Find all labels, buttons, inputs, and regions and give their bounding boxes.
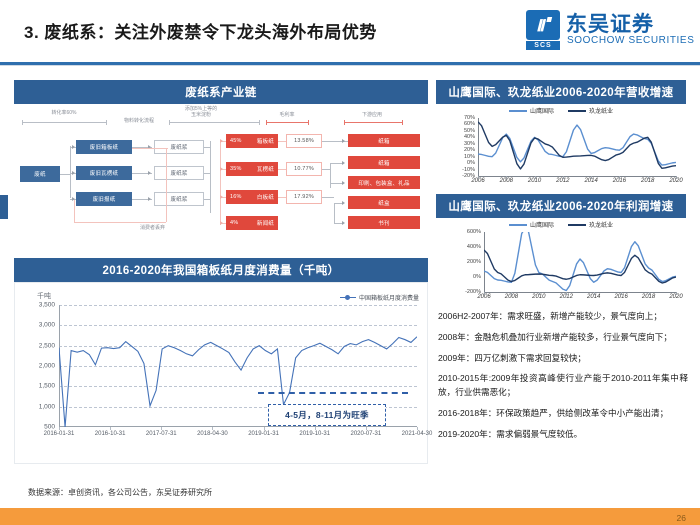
- arrow-icon: [342, 139, 345, 143]
- chain-node-downstream-0: 纸箱: [348, 134, 420, 147]
- note-paragraph: 2019-2020年：需求偏弱景气度较低。: [438, 428, 688, 442]
- profit-legend-item-1: 玖龙纸业: [568, 220, 613, 229]
- connector: [322, 169, 330, 170]
- profit-panel-title: 山鹰国际、玖龙纸业2006-2020年利润增速: [436, 194, 686, 218]
- y-tick-label: 0%: [473, 274, 481, 280]
- connector: [334, 223, 342, 224]
- chain-header-rule-1: [22, 122, 106, 123]
- y-tick-label: 60%: [464, 121, 475, 127]
- x-tick-label: 2016-10-31: [95, 431, 126, 437]
- company-name-cn: 东吴证券: [566, 8, 654, 38]
- chain-node-pulp-1: 废纸浆: [154, 166, 204, 180]
- legend-dot-icon: [345, 295, 350, 300]
- industry-chain-diagram: 转化率60%物料转化流程添加5%上等的 玉米淀粉毛利率下游应用废纸废旧箱板纸废旧…: [14, 104, 428, 244]
- x-tick-mark: [649, 292, 650, 295]
- x-tick-mark: [264, 427, 265, 430]
- chain-node-downstream-2: 印刷、包装盒、礼品: [348, 176, 420, 189]
- series-lines: [478, 118, 676, 176]
- connector: [132, 148, 168, 149]
- connector: [166, 148, 167, 222]
- x-tick-label: 2019-01-31: [248, 431, 279, 437]
- connector: [60, 174, 70, 175]
- legend-swatch: [568, 224, 586, 226]
- connector: [330, 183, 342, 184]
- arrow-icon: [220, 195, 223, 199]
- x-tick-mark: [648, 176, 649, 179]
- profit-growth-chart: 山鹰国际 玖龙纸业 600%400%200%0%-200%20062008201…: [436, 218, 686, 306]
- company-logo: ⑈ SCS 东吴证券 SOOCHOW SECURITIES: [526, 8, 686, 52]
- chain-node-product-3: 4%新闻纸: [226, 216, 278, 230]
- y-tick-label: 40%: [464, 134, 475, 140]
- header-divider-thin: [0, 65, 700, 66]
- swirl-logo-icon: ⑈: [526, 10, 560, 40]
- chain-header-conversion: 转化率60%: [22, 110, 106, 116]
- note-paragraph: 2008年：金融危机叠加行业新增产能较多，行业景气度向下；: [438, 331, 688, 345]
- connector: [278, 169, 286, 170]
- tick: [259, 120, 260, 125]
- series-lines: [484, 232, 676, 292]
- x-tick-mark: [566, 292, 567, 295]
- arrow-icon: [220, 221, 223, 225]
- season-dash-line: [258, 392, 408, 394]
- x-tick-mark: [563, 176, 564, 179]
- legend-swatch: [568, 110, 586, 112]
- slide-header: 3. 废纸系：关注外废禁令下龙头海外布局优势 ⑈ SCS 东吴证券 SOOCHO…: [0, 0, 700, 62]
- revenue-legend-item-0: 山鹰国际: [509, 106, 554, 115]
- product-share: 45%: [230, 138, 242, 144]
- profit-legend: 山鹰国际 玖龙纸业: [436, 220, 686, 229]
- product-name: 箱板纸: [257, 137, 274, 145]
- connector: [204, 173, 210, 174]
- chain-header-starch: 添加5%上等的 玉米淀粉: [166, 106, 236, 119]
- chain-node-margin-1: 10.77%: [286, 162, 322, 176]
- chain-node-pulp-0: 废纸浆: [154, 140, 204, 154]
- note-paragraph: 2010-2015年:2009年投资高峰使行业产能于2010-2011年集中释放…: [438, 372, 688, 400]
- x-axis: [478, 176, 676, 177]
- commentary-notes: 2006H2-2007年：需求旺盛，新增产能较少，景气度向上；2008年：金融危…: [438, 310, 688, 448]
- chain-node-sort-2: 废旧报纸: [76, 192, 132, 206]
- revenue-panel-title: 山鹰国际、玖龙纸业2006-2020年营收增速: [436, 80, 686, 104]
- x-tick-mark: [676, 176, 677, 179]
- profit-plot-area: 600%400%200%0%-200%200620082010201220142…: [484, 232, 676, 292]
- connector: [334, 203, 342, 204]
- data-source-note: 数据来源：卓创资讯，各公司公告，东吴证券研究所: [28, 487, 212, 498]
- connector: [74, 222, 166, 223]
- season-annotation: 4-5月，8-11月为旺季: [268, 404, 386, 426]
- x-tick-label: 2016-01-31: [44, 431, 75, 437]
- y-tick-label: 400%: [467, 244, 481, 250]
- consumption-unit-label: 千吨: [37, 291, 51, 301]
- x-tick-mark: [161, 427, 162, 430]
- tick: [22, 120, 23, 125]
- arrow-icon: [342, 161, 345, 165]
- connector: [210, 141, 211, 213]
- legend-label: 玖龙纸业: [589, 106, 613, 115]
- legend-label: 山鹰国际: [530, 220, 554, 229]
- connector: [322, 197, 334, 198]
- connector: [334, 203, 335, 223]
- product-name: 瓦楞纸: [257, 165, 274, 173]
- legend-label: 玖龙纸业: [589, 220, 613, 229]
- arrow-icon: [148, 197, 151, 201]
- legend-label: 山鹰国际: [530, 106, 554, 115]
- revenue-plot-area: 70%60%50%40%30%20%10%0%-10%-20%200620082…: [478, 118, 676, 176]
- x-tick-mark: [484, 292, 485, 295]
- chain-header-process: 物料转化流程: [109, 118, 169, 124]
- connector: [204, 199, 210, 200]
- tick: [266, 120, 267, 125]
- x-tick-mark: [315, 427, 316, 430]
- legend-label: 中国箱板纸月度消费量: [359, 293, 419, 302]
- x-tick-mark: [478, 176, 479, 179]
- chain-node-margin-0: 13.58%: [286, 134, 322, 148]
- product-name: 新闻纸: [257, 219, 274, 227]
- y-tick-label: 50%: [464, 128, 475, 134]
- tick: [106, 120, 107, 125]
- chain-node-margin-2: 17.92%: [286, 190, 322, 204]
- x-tick-label: 2020-07-31: [350, 431, 381, 437]
- connector: [70, 146, 71, 198]
- note-paragraph: 2016-2018年：环保政策趋严，供给侧改革令中小产能出清；: [438, 407, 688, 421]
- note-paragraph: 2009年：四万亿刺激下需求回复较快；: [438, 352, 688, 366]
- y-tick-label: 600%: [467, 229, 481, 235]
- y-tick-label: 3,000: [39, 322, 55, 329]
- x-tick-label: 2018-04-30: [197, 431, 228, 437]
- scs-abbreviation: SCS: [526, 41, 560, 50]
- y-tick-label: 30%: [464, 141, 475, 147]
- arrow-icon: [72, 145, 75, 149]
- arrow-icon: [220, 139, 223, 143]
- tick: [169, 120, 170, 125]
- chain-header-rule-3: [266, 122, 308, 123]
- x-tick-mark: [366, 427, 367, 430]
- chain-node-downstream-3: 纸盒: [348, 196, 420, 209]
- chain-node-downstream-4: 书刊: [348, 216, 420, 229]
- x-tick-label: 2021-04-30: [402, 431, 433, 437]
- y-tick-label: 10%: [464, 154, 475, 160]
- x-tick-mark: [511, 292, 512, 295]
- connector: [220, 141, 221, 225]
- product-share: 16%: [230, 194, 242, 200]
- x-tick-mark: [621, 292, 622, 295]
- chain-consume-note: 消费者丢弃: [140, 224, 165, 231]
- revenue-legend: 山鹰国际 玖龙纸业: [436, 106, 686, 115]
- product-share: 35%: [230, 166, 242, 172]
- consumption-panel-title: 2016-2020年我国箱板纸月度消费量（千吨）: [14, 258, 428, 282]
- connector: [330, 163, 331, 188]
- x-tick-mark: [676, 292, 677, 295]
- chain-panel-title: 废纸系产业链: [14, 80, 428, 104]
- y-tick-label: 1,500: [39, 383, 55, 390]
- x-tick-mark: [539, 292, 540, 295]
- x-tick-mark: [110, 427, 111, 430]
- consumption-legend: 中国箱板纸月度消费量: [340, 293, 419, 302]
- x-tick-mark: [212, 427, 213, 430]
- connector: [74, 200, 75, 222]
- chain-node-product-0: 45%箱板纸: [226, 134, 278, 148]
- chain-header-rule-2: [169, 122, 259, 123]
- x-tick-mark: [59, 427, 60, 430]
- arrow-icon: [342, 201, 345, 205]
- page-title: 3. 废纸系：关注外废禁令下龙头海外布局优势: [24, 18, 377, 43]
- y-tick-label: 70%: [464, 115, 475, 121]
- tick: [308, 120, 309, 125]
- y-tick-label: 200%: [467, 259, 481, 265]
- tick: [344, 120, 345, 125]
- chain-node-sort-0: 废旧箱板纸: [76, 140, 132, 154]
- chain-node-product-1: 35%瓦楞纸: [226, 162, 278, 176]
- arrow-icon: [220, 167, 223, 171]
- legend-swatch: [509, 110, 527, 112]
- connector: [204, 147, 210, 148]
- x-tick-mark: [619, 176, 620, 179]
- note-paragraph: 2006H2-2007年：需求旺盛，新增产能较少，景气度向上；: [438, 310, 688, 324]
- chain-node-source: 废纸: [20, 166, 60, 182]
- chain-node-sort-1: 废旧瓦楞纸: [76, 166, 132, 180]
- y-tick-label: 1,000: [39, 403, 55, 410]
- x-tick-mark: [506, 176, 507, 179]
- revenue-growth-chart: 山鹰国际 玖龙纸业 70%60%50%40%30%20%10%0%-10%-20…: [436, 104, 686, 190]
- left-accent-bar: [0, 195, 8, 219]
- x-tick-label: 2017-07-31: [146, 431, 177, 437]
- arrow-icon: [342, 221, 345, 225]
- chain-node-downstream-1: 纸箱: [348, 156, 420, 169]
- y-tick-label: -10%: [462, 167, 475, 173]
- arrow-icon: [148, 171, 151, 175]
- x-tick-mark: [535, 176, 536, 179]
- product-share: 4%: [230, 220, 238, 226]
- tick: [402, 120, 403, 125]
- x-axis: [484, 292, 676, 293]
- x-tick-label: 2019-10-31: [299, 431, 330, 437]
- footer-bar: [0, 508, 700, 525]
- connector: [278, 141, 286, 142]
- consumption-chart: 千吨 中国箱板纸月度消费量 3,5003,0002,5002,0001,5001…: [14, 282, 428, 464]
- arrow-icon: [72, 171, 75, 175]
- company-name-en: SOOCHOW SECURITIES: [567, 35, 694, 46]
- x-tick-mark: [591, 176, 592, 179]
- revenue-legend-item-1: 玖龙纸业: [568, 106, 613, 115]
- chain-node-pulp-2: 废纸浆: [154, 192, 204, 206]
- chain-header-rule-4: [344, 122, 402, 123]
- y-tick-label: 500: [44, 424, 55, 431]
- connector: [278, 197, 286, 198]
- y-tick-label: 2,000: [39, 363, 55, 370]
- x-tick-mark: [594, 292, 595, 295]
- y-tick-label: 20%: [464, 147, 475, 153]
- arrow-icon: [342, 181, 345, 185]
- connector: [330, 163, 342, 164]
- y-tick-label: 3,500: [39, 302, 55, 309]
- y-tick-label: 2,500: [39, 342, 55, 349]
- chain-header-margin: 毛利率: [264, 112, 310, 118]
- profit-legend-item-0: 山鹰国际: [509, 220, 554, 229]
- product-name: 白板纸: [257, 193, 274, 201]
- x-tick-mark: [417, 427, 418, 430]
- legend-line-swatch: [340, 297, 356, 299]
- y-tick-label: 0%: [467, 160, 475, 166]
- chain-node-product-2: 16%白板纸: [226, 190, 278, 204]
- page-number: 26: [677, 513, 686, 523]
- chain-header-downstream: 下游应用: [342, 112, 402, 118]
- legend-swatch: [509, 224, 527, 226]
